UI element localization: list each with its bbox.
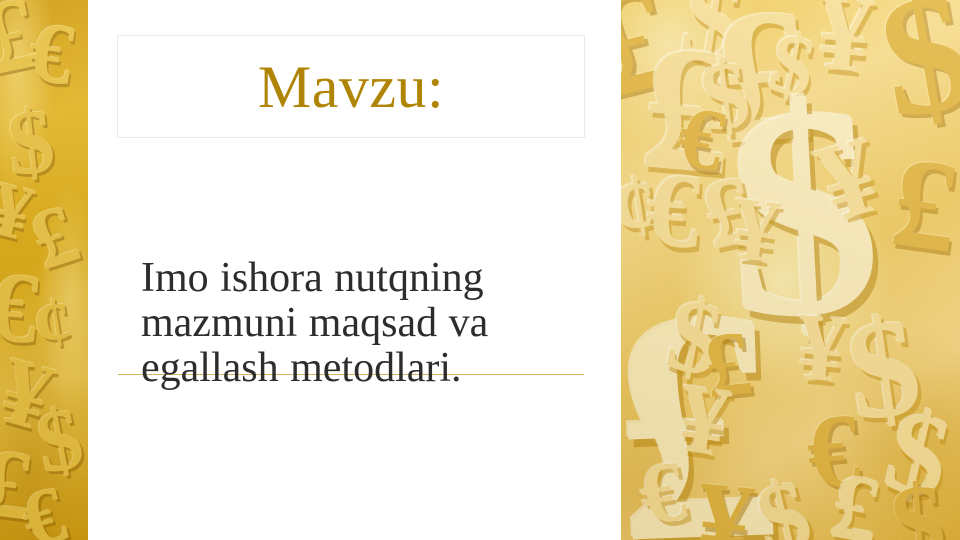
currency-symbol-pound-icon: £ bbox=[884, 136, 960, 274]
currency-symbol-dollar-icon: $ bbox=[869, 0, 960, 146]
page-title: Mavzu: bbox=[258, 57, 444, 117]
slide-body-block: Imo ishora nutqning mazmuni maqsad va eg… bbox=[141, 256, 596, 391]
slide-content-area: Mavzu: Imo ishora nutqning mazmuni maqsa… bbox=[88, 0, 621, 540]
slide-body-text: Imo ishora nutqning mazmuni maqsad va eg… bbox=[141, 256, 596, 391]
slide-title-box: Mavzu: bbox=[117, 35, 585, 138]
right-currency-image-panel: £ $ £ ¥ $ $ £ $ € $ ¥ £ ¢ € £ ¥ £ $ £ ¥ … bbox=[621, 0, 960, 540]
currency-symbol-dollar-icon: $ bbox=[887, 468, 948, 540]
left-panel-glyph-group: £ € $ ¥ £ € ¢ ¥ $ £ € bbox=[0, 0, 88, 540]
right-panel-glyph-group: £ $ £ ¥ $ $ £ $ € $ ¥ £ ¢ € £ ¥ £ $ £ ¥ … bbox=[621, 0, 960, 540]
presentation-slide: £ € $ ¥ £ € ¢ ¥ $ £ € £ $ £ ¥ $ $ £ $ € … bbox=[0, 0, 960, 540]
left-currency-image-panel: £ € $ ¥ £ € ¢ ¥ $ £ € bbox=[0, 0, 88, 540]
